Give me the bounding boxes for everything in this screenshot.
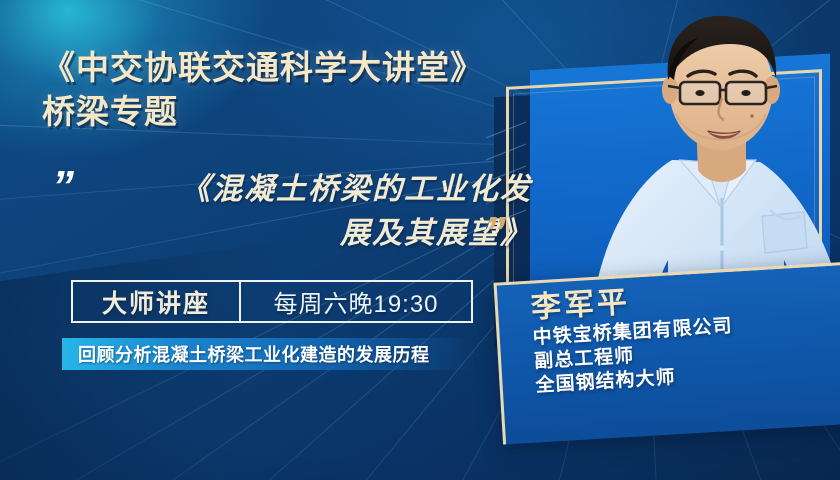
lecture-schedule-label: 每周六晚19:30 (273, 284, 438, 319)
quote-open-icon: ” (52, 172, 74, 203)
page-title: 《中交协联交通科学大讲堂》 桥梁专题 (42, 46, 582, 133)
lecture-poster: 李军平 中铁宝桥集团有限公司 副总工程师 全国钢结构大师 《中交协联交通科学大讲… (0, 0, 840, 480)
speaker-info-panel: 李军平 中铁宝桥集团有限公司 副总工程师 全国钢结构大师 (494, 261, 840, 444)
lecture-category-label: 大师讲座 (102, 284, 210, 320)
lecture-schedule: 每周六晚19:30 (241, 282, 471, 321)
schedule-info-box: 大师讲座 每周六晚19:30 (71, 280, 473, 323)
topic-line-1: 《混凝土桥梁的工业化发 (44, 168, 554, 212)
topic-line-2: 展及其展望》 (44, 212, 554, 256)
quote-close-icon: ” (484, 218, 506, 249)
lecture-category: 大师讲座 (73, 282, 241, 321)
tagline-bar: 回顾分析混凝土桥梁工业化建造的发展历程 (62, 338, 472, 370)
title-line-2: 桥梁专题 (42, 90, 582, 134)
tagline-text: 回顾分析混凝土桥梁工业化建造的发展历程 (62, 341, 430, 367)
topic-quote-block: ” 《混凝土桥梁的工业化发 展及其展望》 ” (44, 168, 554, 255)
title-line-1: 《中交协联交通科学大讲堂》 (42, 46, 582, 90)
